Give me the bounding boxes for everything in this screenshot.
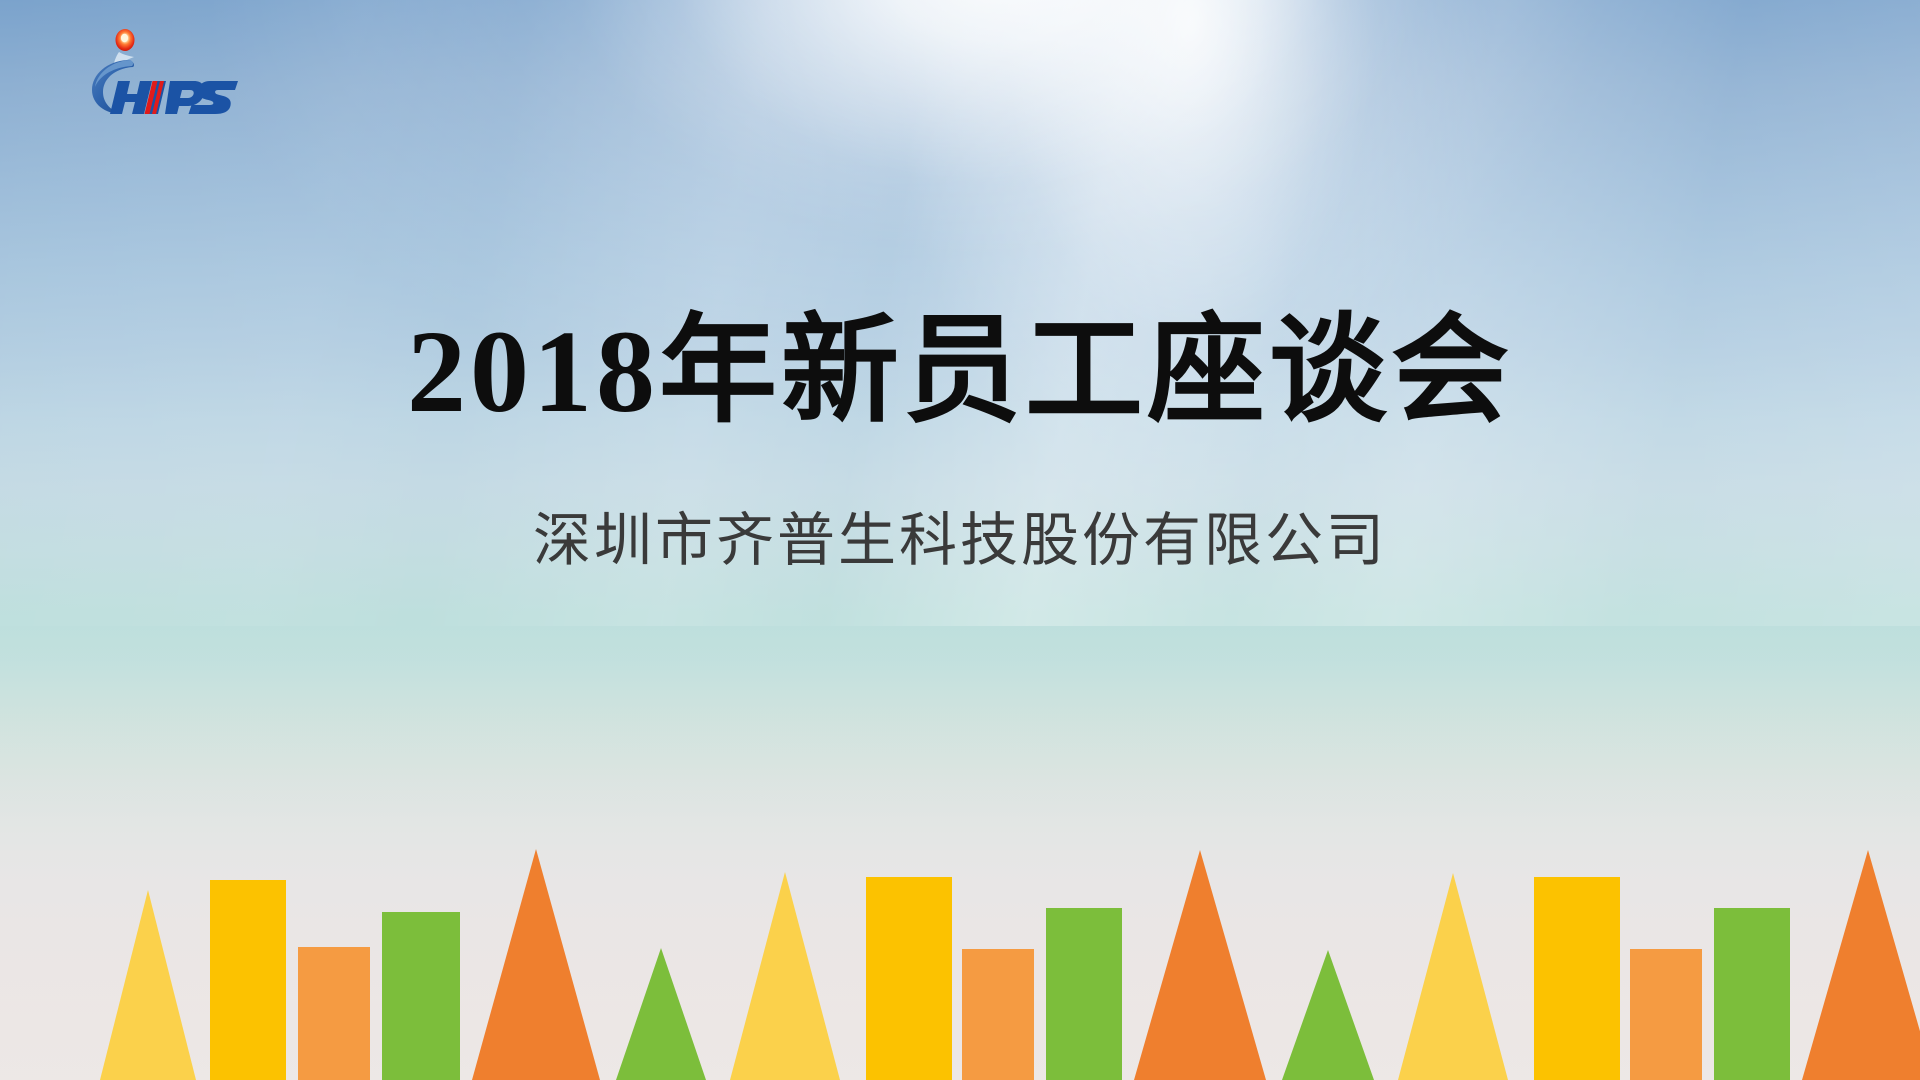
decorative-bar bbox=[1630, 949, 1702, 1080]
decorative-bar bbox=[1046, 908, 1122, 1080]
decorative-bar bbox=[210, 880, 286, 1080]
decorative-triangle bbox=[472, 849, 600, 1080]
decorative-triangle bbox=[100, 890, 196, 1080]
decorative-triangle bbox=[1802, 850, 1920, 1080]
decorative-bar bbox=[382, 912, 460, 1080]
decorative-shapes-group bbox=[100, 849, 1920, 1080]
decorative-bar bbox=[866, 877, 952, 1080]
flame-dot-icon bbox=[116, 29, 135, 51]
decorative-bar bbox=[298, 947, 370, 1080]
decorative-bar bbox=[962, 949, 1034, 1080]
decorative-triangle bbox=[1398, 873, 1508, 1080]
decorative-triangle bbox=[730, 872, 840, 1080]
decorative-triangle bbox=[616, 948, 706, 1080]
logo-wordmark bbox=[110, 81, 238, 114]
bottom-decoration-band bbox=[0, 720, 1920, 1080]
slide-subtitle-company-name: 深圳市齐普生科技股份有限公司 bbox=[0, 506, 1920, 576]
company-logo bbox=[78, 26, 288, 114]
slide-main-title: 2018年新员工座谈会 bbox=[0, 300, 1920, 444]
decorative-triangle bbox=[1134, 850, 1266, 1080]
decorative-bar bbox=[1534, 877, 1620, 1080]
title-block: 2018年新员工座谈会 深圳市齐普生科技股份有限公司 bbox=[0, 300, 1920, 576]
decorative-triangle bbox=[1282, 950, 1374, 1080]
decorative-bar bbox=[1714, 908, 1790, 1080]
presentation-slide: 2018年新员工座谈会 深圳市齐普生科技股份有限公司 bbox=[0, 0, 1920, 1080]
